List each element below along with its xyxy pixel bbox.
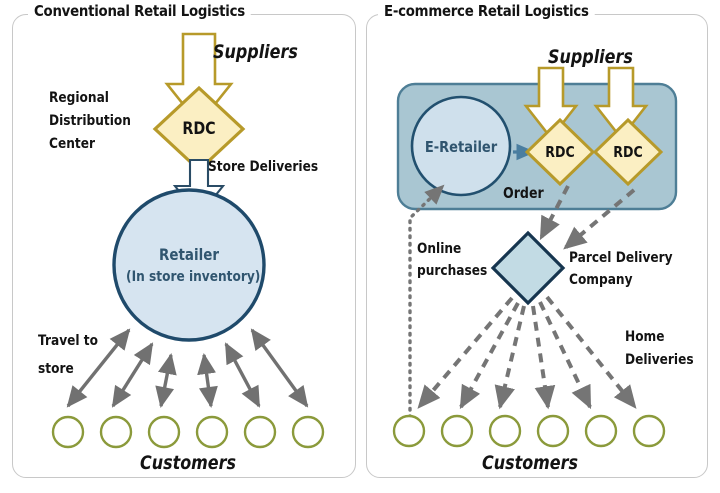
home-deliveries-line2: Deliveries — [625, 352, 694, 369]
customer-circle-r6 — [634, 416, 664, 446]
customer-circle-r2 — [442, 416, 472, 446]
order-label: Order — [503, 185, 544, 203]
travel-arrow-4 — [204, 355, 211, 406]
customer-circle-l5 — [245, 417, 275, 447]
home-delivery-arrow-6 — [547, 297, 635, 407]
suppliers-label-right: Suppliers — [548, 46, 633, 68]
travel-to-store-line1: Travel to — [38, 333, 98, 350]
home-delivery-arrow-1 — [419, 298, 512, 407]
customer-circle-l3 — [149, 417, 179, 447]
travel-arrow-2 — [113, 344, 152, 406]
home-deliveries-line1: Home — [625, 329, 665, 346]
home-delivery-arrow-3 — [500, 306, 524, 407]
suppliers-label-left: Suppliers — [213, 41, 298, 63]
online-purchases-line1: Online — [417, 241, 461, 258]
customer-circle-l1 — [53, 417, 83, 447]
online-purchases-line2: purchases — [417, 263, 487, 280]
online-purchases-dotted-arrow — [410, 186, 443, 425]
retailer-circle — [114, 190, 264, 340]
panel-title-conventional: Conventional Retail Logistics — [28, 2, 251, 20]
parcel-delivery-diamond — [493, 233, 563, 303]
diagram-root: Conventional Retail Logistics E-commerce… — [0, 0, 720, 493]
rdc-diamond-left — [155, 88, 243, 170]
travel-arrow-3 — [161, 355, 171, 406]
home-delivery-arrow-2 — [461, 303, 518, 407]
customer-circle-l2 — [101, 417, 131, 447]
regional-distribution-center-line1: Regional — [49, 90, 109, 107]
panel-title-ecommerce: E-commerce Retail Logistics — [378, 2, 595, 20]
travel-arrow-6 — [252, 330, 307, 406]
parcel-delivery-line2: Company — [569, 272, 633, 289]
customers-label-right: Customers — [480, 452, 581, 474]
parcel-delivery-line1: Parcel Delivery — [569, 250, 673, 267]
customer-circle-r5 — [586, 416, 616, 446]
travel-to-store-line2: store — [38, 361, 74, 378]
home-delivery-arrow-4 — [533, 306, 548, 407]
regional-distribution-center-line2: Distribution — [49, 113, 131, 130]
customer-circle-l4 — [197, 417, 227, 447]
customer-circle-r4 — [538, 416, 568, 446]
customers-label-left: Customers — [138, 452, 239, 474]
regional-distribution-center-line3: Center — [49, 136, 95, 153]
e-retailer-circle — [412, 97, 510, 195]
customer-circle-l6 — [293, 417, 323, 447]
diagram-vector-layer — [0, 0, 720, 493]
travel-arrow-5 — [226, 344, 259, 406]
customer-circle-r1 — [394, 416, 424, 446]
customer-circle-r3 — [490, 416, 520, 446]
store-deliveries-label: Store Deliveries — [208, 159, 318, 176]
